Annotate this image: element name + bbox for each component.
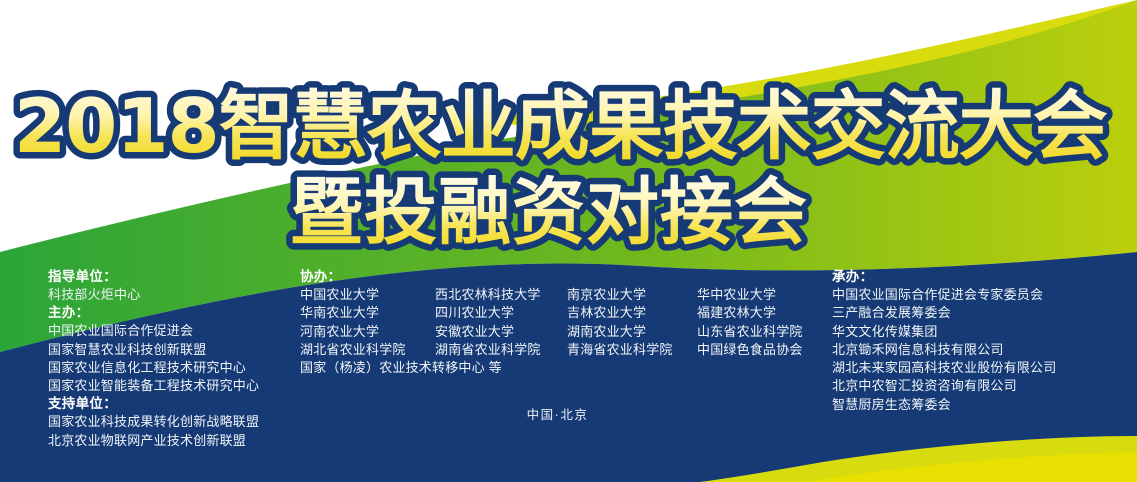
coorganizer-tail-line: 国家（杨凌）农业技术转移中心 等 [300, 359, 803, 377]
heading-guidance-unit: 指导单位： [48, 268, 259, 286]
coorg-cell: 中国农业大学 [300, 286, 435, 304]
coorg-cell: 华中农业大学 [697, 286, 803, 304]
undertaker-item-4: 湖北未来家园高科技农业股份有限公司 [832, 359, 1056, 377]
undertaker-item-1: 三产融合发展筹委会 [832, 304, 1056, 322]
support-unit-item-1: 北京农业物联网产业技术创新联盟 [48, 432, 259, 450]
host-item-1: 国家智慧农业科技创新联盟 [48, 341, 259, 359]
coorg-cell: 福建农林大学 [697, 304, 803, 322]
heading-host: 主办： [48, 304, 259, 322]
coorg-cell: 四川农业大学 [435, 304, 567, 322]
coorg-cell: 吉林农业大学 [567, 304, 697, 322]
undertaker-item-2: 华文文化传媒集团 [832, 323, 1056, 341]
coorg-cell: 山东省农业科学院 [697, 323, 803, 341]
guidance-unit-item-0: 科技部火炬中心 [48, 286, 259, 304]
block-host: 主办： 中国农业国际合作促进会 国家智慧农业科技创新联盟 国家农业信息化工程技术… [48, 304, 259, 395]
column-coorganizers: 协办： 中国农业大学 西北农林科技大学 南京农业大学 华中农业大学 华南农业大学… [300, 268, 803, 377]
block-guidance-unit: 指导单位： 科技部火炬中心 [48, 268, 259, 304]
coorganizer-grid: 中国农业大学 西北农林科技大学 南京农业大学 华中农业大学 华南农业大学 四川农… [300, 286, 803, 359]
undertaker-item-0: 中国农业国际合作促进会专家委员会 [832, 286, 1056, 304]
coorg-cell: 安徽农业大学 [435, 323, 567, 341]
coorg-cell: 中国绿色食品协会 [697, 341, 803, 359]
coorg-cell: 华南农业大学 [300, 304, 435, 322]
coorg-cell: 南京农业大学 [567, 286, 697, 304]
coorg-cell: 青海省农业科学院 [567, 341, 697, 359]
coorg-cell: 河南农业大学 [300, 323, 435, 341]
undertaker-item-3: 北京锄禾网信息科技有限公司 [832, 341, 1056, 359]
host-item-3: 国家农业智能装备工程技术研究中心 [48, 377, 259, 395]
undertaker-item-5: 北京中农智汇投资咨询有限公司 [832, 377, 1056, 395]
event-location: 中国·北京 [527, 404, 589, 423]
host-item-2: 国家农业信息化工程技术研究中心 [48, 359, 259, 377]
coorg-cell: 湖北省农业科学院 [300, 341, 435, 359]
host-item-0: 中国农业国际合作促进会 [48, 322, 259, 340]
coorg-cell: 西北农林科技大学 [435, 286, 567, 304]
event-poster: 2018智慧农业成果技术交流大会 2018智慧农业成果技术交流大会 暨投融资对接… [0, 0, 1137, 482]
event-location-wrapper: 中国·北京 [0, 404, 1137, 423]
coorg-cell: 湖南省农业科学院 [435, 341, 567, 359]
heading-coorganizer: 协办： [300, 268, 803, 286]
heading-undertaker: 承办： [832, 268, 1056, 286]
coorg-cell: 湖南农业大学 [567, 323, 697, 341]
column-undertakers: 承办： 中国农业国际合作促进会专家委员会 三产融合发展筹委会 华文文化传媒集团 … [832, 268, 1056, 414]
